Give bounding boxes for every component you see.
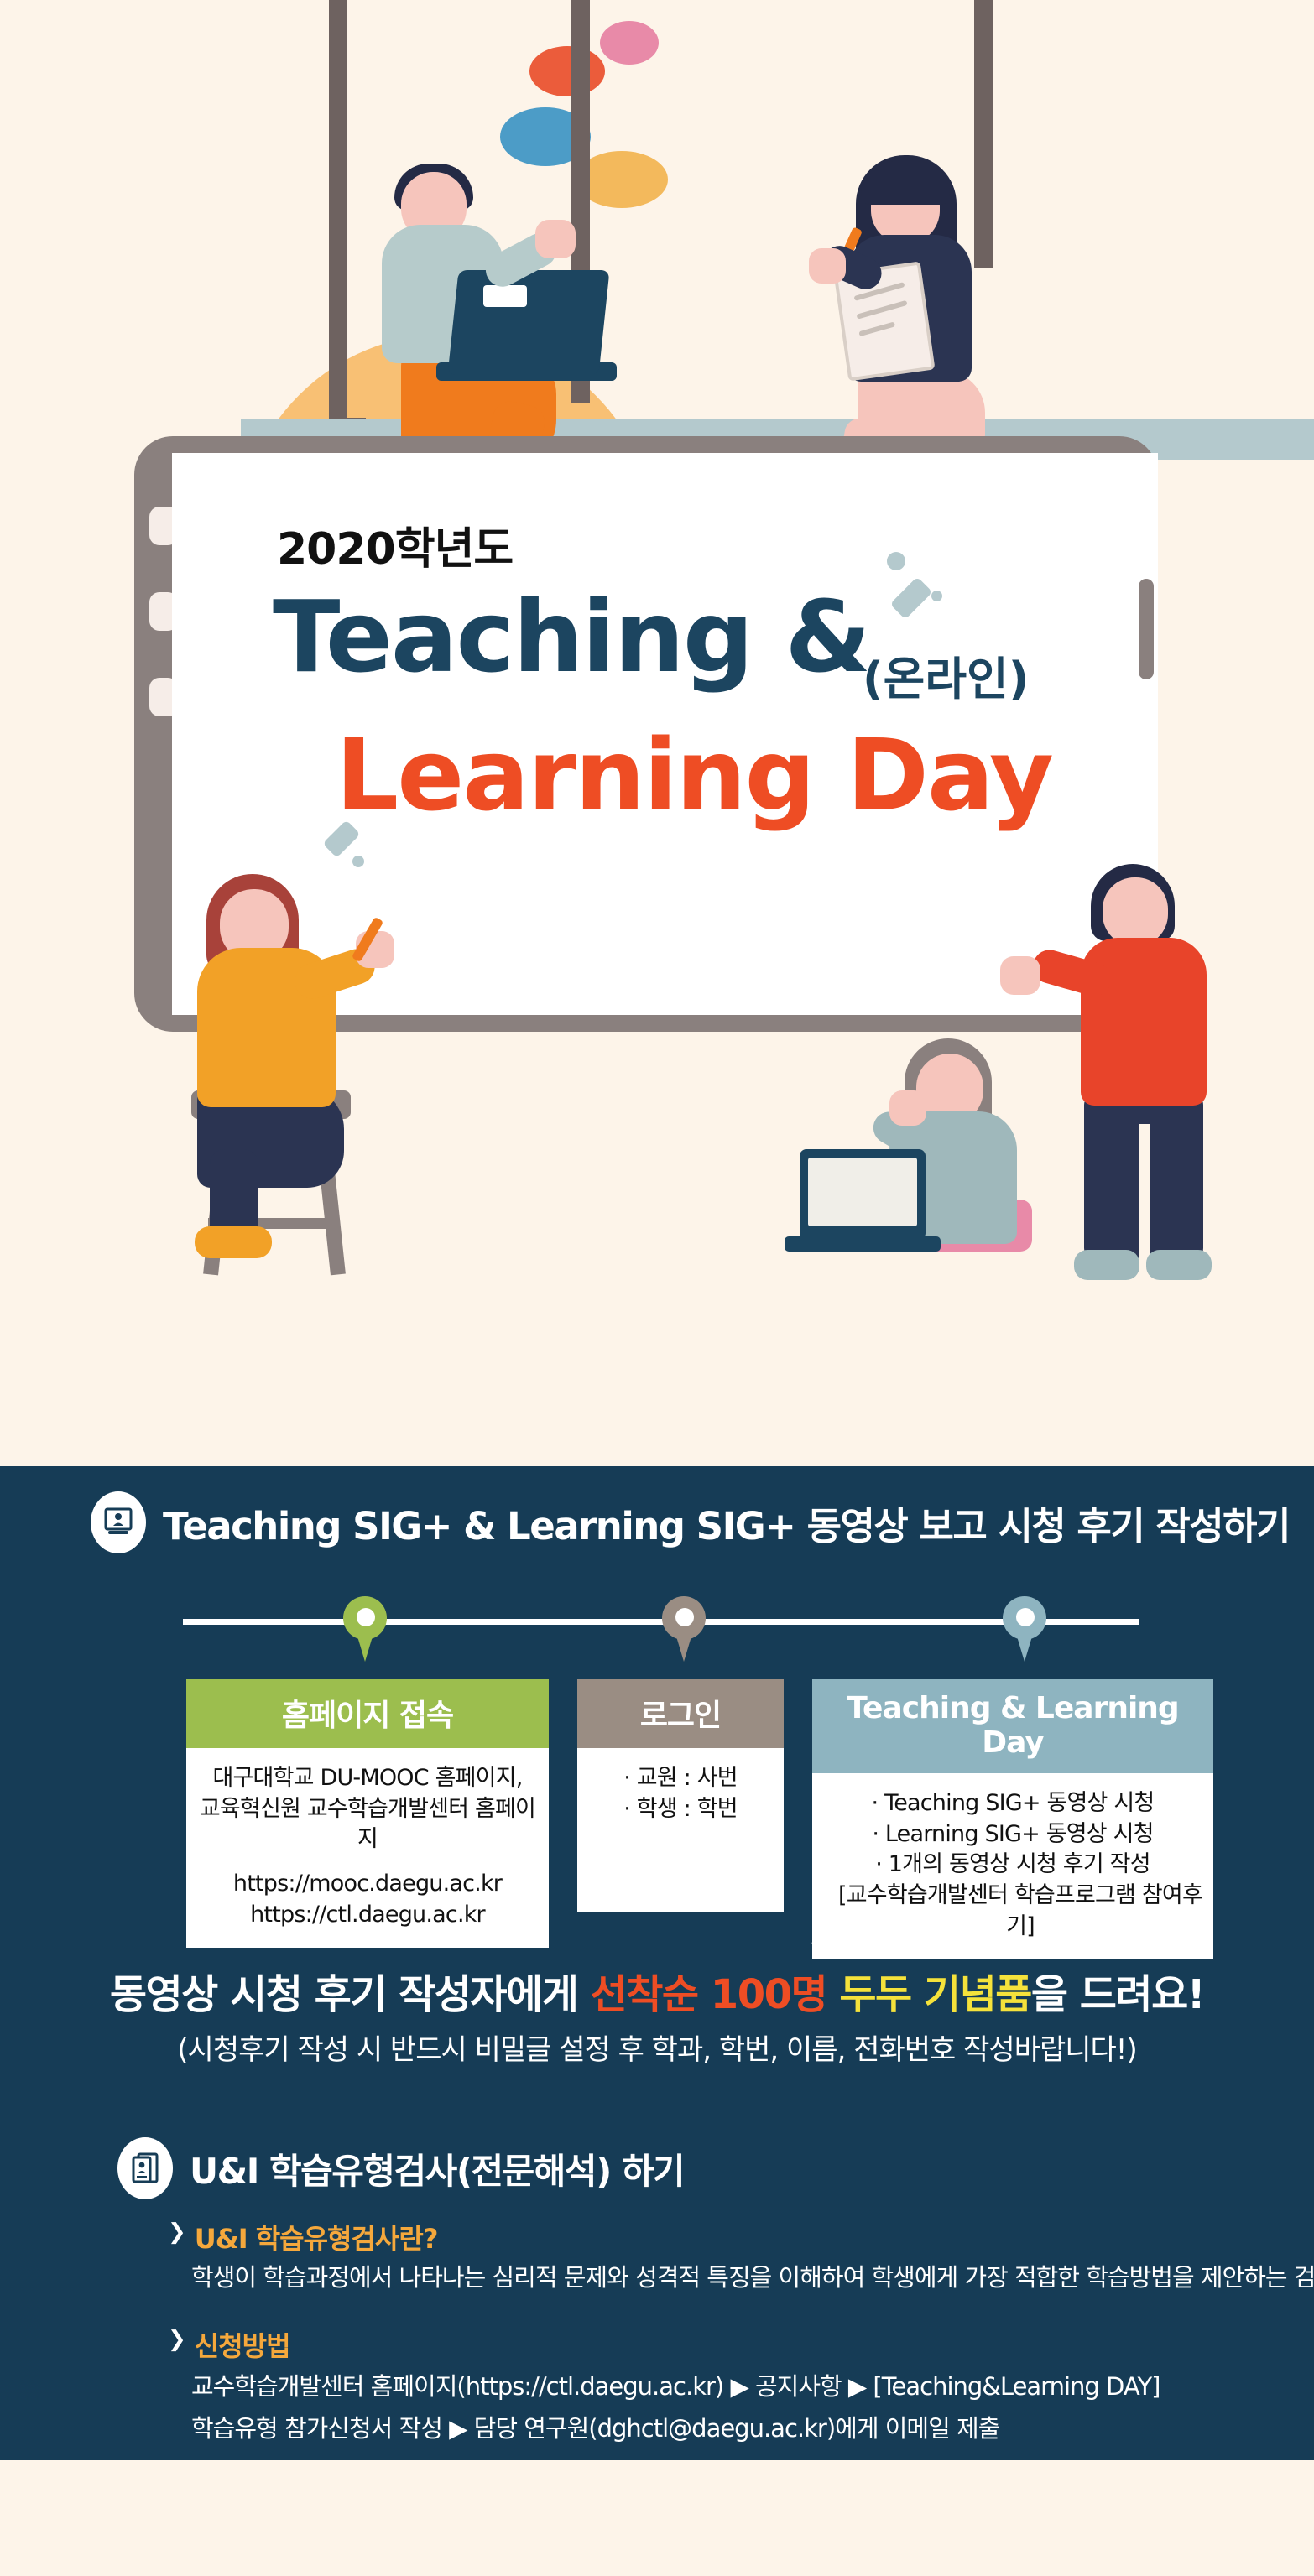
gift-prefix: 동영상 시청 후기 작성자에게 bbox=[110, 1971, 591, 2018]
bullet-2-line-1: 교수학습개발센터 홈페이지(https://ctl.daegu.ac.kr) ▶… bbox=[191, 2367, 1160, 2402]
section-1-heading: Teaching SIG+ & Learning SIG+ 동영상 보고 시청 … bbox=[91, 1491, 1290, 1553]
step-box-homepage: 홈페이지 접속 대구대학교 DU-MOOC 홈페이지, 교육혁신원 교수학습개발… bbox=[186, 1679, 549, 1948]
phone-side-button bbox=[1139, 579, 1154, 679]
speech-bubble-orange-icon bbox=[529, 46, 605, 96]
chevron-right-icon-2: ❯ bbox=[168, 2325, 186, 2350]
timeline-connector bbox=[183, 1619, 1139, 1625]
step-1-body: 대구대학교 DU-MOOC 홈페이지, 교육혁신원 교수학습개발센터 홈페이지 … bbox=[186, 1748, 549, 1948]
hanging-rod-left bbox=[329, 0, 347, 436]
bullet-1-label: U&I 학습유형검사란? bbox=[195, 2218, 438, 2256]
hero-illustration-area: 2020학년도 Teaching & (온라인) Learning Day bbox=[0, 0, 1314, 1466]
step-3-line-4: [교수학습개발센터 학습프로그램 참여후기] bbox=[821, 1881, 1205, 1942]
section-1-title: Teaching SIG+ & Learning SIG+ 동영상 보고 시청 … bbox=[163, 1496, 1290, 1550]
step-1-line-2: 교육혁신원 교수학습개발센터 홈페이지 bbox=[195, 1794, 540, 1855]
gift-announcement: 동영상 시청 후기 작성자에게 선착순 100명 두두 기념품을 드려요! bbox=[0, 1961, 1314, 2020]
speech-bubble-pink-icon bbox=[600, 21, 659, 65]
section-2-heading: U&I 학습유형검사(전문해석) 하기 bbox=[117, 2137, 684, 2199]
hanging-rod-right bbox=[974, 0, 993, 268]
step-2-line-1: · 교원 : 사번 bbox=[586, 1763, 775, 1794]
gift-highlight-count: 선착순 100명 bbox=[591, 1971, 827, 2018]
step-1-url-1[interactable]: https://mooc.daegu.ac.kr bbox=[195, 1869, 540, 1900]
step-3-line-2: · Learning SIG+ 동영상 시청 bbox=[821, 1819, 1205, 1850]
bullet-2-label: 신청방법 bbox=[195, 2325, 290, 2364]
poster-root: 2020학년도 Teaching & (온라인) Learning Day bbox=[0, 0, 1314, 2576]
step-3-header: Teaching & Learning Day bbox=[812, 1679, 1213, 1773]
step-2-body: · 교원 : 사번 · 학생 : 학번 bbox=[577, 1748, 784, 1912]
gift-note: (시청후기 작성 시 반드시 비밀글 설정 후 학과, 학번, 이름, 전화번호… bbox=[0, 2027, 1314, 2068]
poster-title-line1: Teaching & bbox=[273, 587, 869, 686]
step-3-line-3: · 1개의 동영상 시청 후기 작성 bbox=[821, 1850, 1205, 1881]
gift-suffix: 을 드려요! bbox=[1031, 1971, 1204, 2018]
poster-title-online: (온라인) bbox=[863, 642, 1029, 708]
poster-title-line2: Learning Day bbox=[336, 726, 1052, 825]
gift-highlight-item: 두두 기념품 bbox=[839, 1971, 1031, 2018]
timeline-pin-3 bbox=[1003, 1596, 1046, 1662]
sparkle-decoration-icon bbox=[810, 1914, 877, 1965]
bullet-2-line-2: 학습유형 참가신청서 작성 ▶ 담당 연구원(dghctl@daegu.ac.k… bbox=[191, 2409, 999, 2444]
footer-bar: 사랑·빛·자유의 전당 대구대학교 bbox=[0, 2460, 1314, 2576]
presentation-board-icon bbox=[91, 1491, 146, 1553]
bullet-1-body: 학생이 학습과정에서 나타나는 심리적 문제와 성격적 특징을 이해하여 학생에… bbox=[191, 2258, 1314, 2293]
bullet-how-to-apply: ❯ 신청방법 bbox=[168, 2325, 290, 2364]
academic-year-label: 2020학년도 bbox=[277, 513, 513, 576]
bullet-what-is-uandi: ❯ U&I 학습유형검사란? bbox=[168, 2218, 437, 2256]
step-1-url-2[interactable]: https://ctl.daegu.ac.kr bbox=[195, 1900, 540, 1931]
schedule-bar: 일정 2021. 1. 11. 월 ~ 1. 14. 목 참가대상 대구대학교 … bbox=[0, 1292, 1314, 1392]
timeline-pin-1 bbox=[343, 1596, 387, 1662]
step-3-line-1: · Teaching SIG+ 동영상 시청 bbox=[821, 1788, 1205, 1819]
step-1-header: 홈페이지 접속 bbox=[186, 1679, 549, 1748]
step-2-header: 로그인 bbox=[577, 1679, 784, 1748]
document-card-icon bbox=[117, 2137, 173, 2199]
timeline-pin-2 bbox=[662, 1596, 706, 1662]
section-2-title: U&I 학습유형검사(전문해석) 하기 bbox=[190, 2143, 684, 2194]
step-box-login: 로그인 · 교원 : 사번 · 학생 : 학번 bbox=[577, 1679, 784, 1912]
chevron-right-icon: ❯ bbox=[168, 2218, 186, 2243]
step-2-line-2: · 학생 : 학번 bbox=[586, 1794, 775, 1825]
step-1-line-1: 대구대학교 DU-MOOC 홈페이지, bbox=[195, 1763, 540, 1794]
